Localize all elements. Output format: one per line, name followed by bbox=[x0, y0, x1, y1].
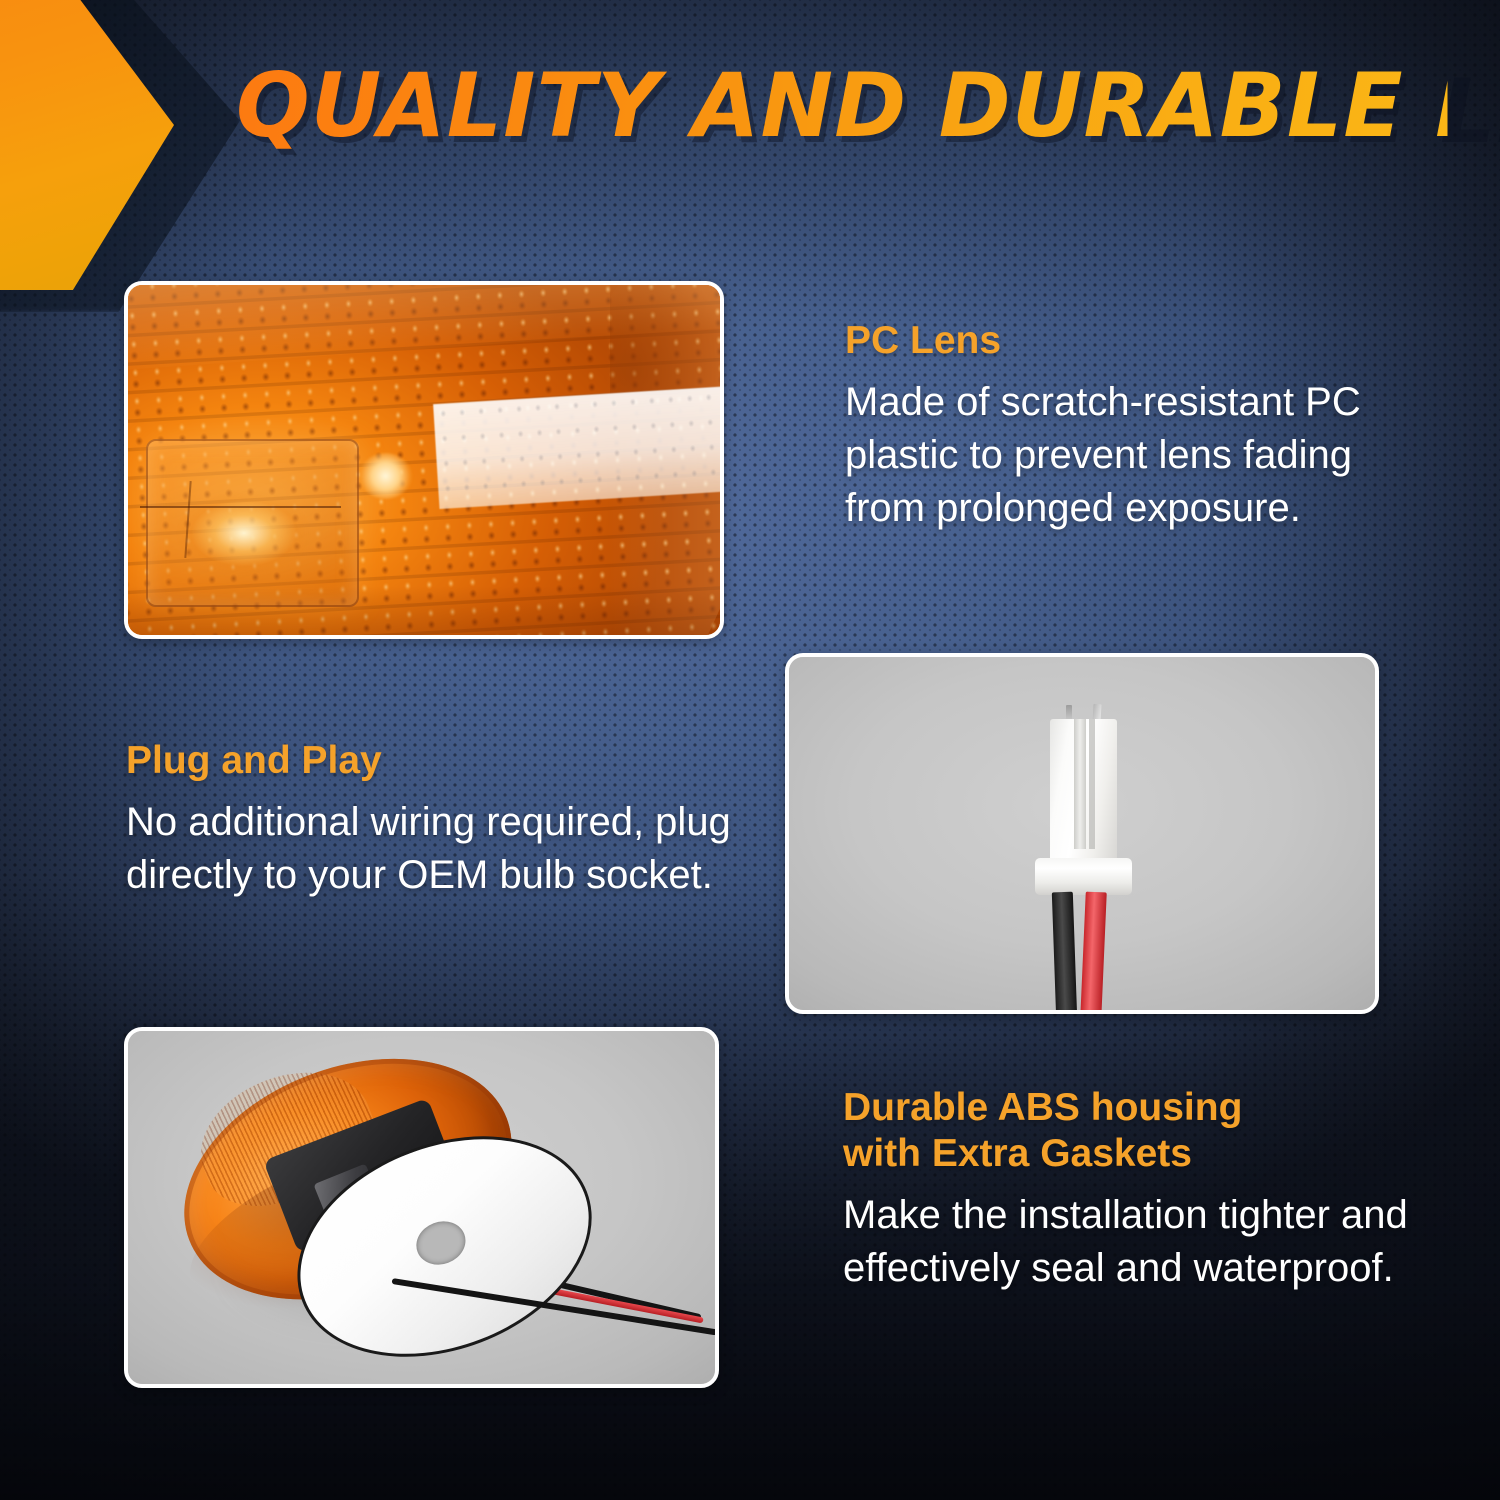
lens-led-wire-horizontal bbox=[140, 506, 341, 508]
lens-bottom-shadow bbox=[128, 586, 720, 639]
feature-plug-and-play: Plug and Play No additional wiring requi… bbox=[126, 738, 766, 902]
feature-abs-housing-heading: Durable ABS housing with Extra Gaskets bbox=[843, 1085, 1423, 1177]
feature-pc-lens-body: Made of scratch-resistant PC plastic to … bbox=[845, 376, 1420, 535]
feature-abs-housing: Durable ABS housing with Extra Gaskets M… bbox=[843, 1085, 1423, 1295]
amber-lens-macro-photo bbox=[128, 285, 720, 635]
lens-diffuser-strip-texture bbox=[433, 383, 724, 508]
lens-edge-shadow bbox=[610, 281, 724, 395]
banner-title-text: QUALITY AND DURABLE LIGHTS bbox=[236, 58, 1448, 154]
connector-red-wire bbox=[1080, 891, 1107, 1014]
connector-black-wire bbox=[1052, 891, 1078, 1014]
banner-title: QUALITY AND DURABLE LIGHTS QUALITY AND D… bbox=[236, 58, 1466, 168]
connector-slot bbox=[1074, 719, 1086, 850]
feature-pc-lens-heading: PC Lens bbox=[845, 318, 1420, 364]
white-wedge-connector-photo bbox=[789, 657, 1375, 1010]
exploded-marker-light-gasket-photo bbox=[128, 1031, 715, 1384]
feature-plug-and-play-heading: Plug and Play bbox=[126, 738, 766, 784]
feature-pc-lens: PC Lens Made of scratch-resistant PC pla… bbox=[845, 318, 1420, 535]
pc-lens-photo-card bbox=[124, 281, 724, 639]
connector-groove bbox=[1089, 719, 1095, 850]
feature-abs-housing-body: Make the installation tighter and effect… bbox=[843, 1189, 1423, 1295]
marketing-banner: QUALITY AND DURABLE LIGHTS QUALITY AND D… bbox=[0, 0, 1500, 1500]
abs-housing-photo-card bbox=[124, 1027, 719, 1388]
connector-skirt bbox=[1035, 858, 1132, 895]
lens-led-module-frame bbox=[146, 439, 359, 607]
lens-led-glow-core bbox=[359, 453, 412, 499]
feature-plug-and-play-body: No additional wiring required, plug dire… bbox=[126, 796, 766, 902]
plug-connector-photo-card bbox=[785, 653, 1379, 1014]
